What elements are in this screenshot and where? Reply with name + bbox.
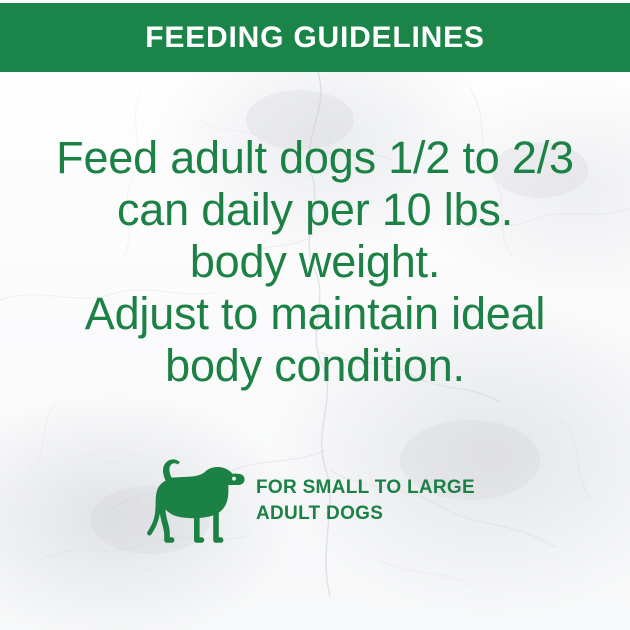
feeding-instructions: Feed adult dogs 1/2 to 2/3 can daily per… (0, 132, 630, 392)
guideline-line-1: Feed adult dogs 1/2 to 2/3 (0, 132, 630, 184)
feeding-guidelines-panel: FEEDING GUIDELINES Feed adult dogs 1/2 t… (0, 0, 630, 630)
dog-silhouette-icon (146, 458, 246, 544)
guideline-line-3: body weight. (0, 236, 630, 288)
feeding-guidelines-banner: FEEDING GUIDELINES (0, 3, 630, 72)
badge-caption: FOR SMALL TO LARGE ADULT DOGS (256, 475, 475, 527)
badge-caption-line-1: FOR SMALL TO LARGE (256, 475, 475, 501)
life-stage-badge: FOR SMALL TO LARGE ADULT DOGS (146, 458, 475, 544)
guideline-line-2: can daily per 10 lbs. (0, 184, 630, 236)
page-title: FEEDING GUIDELINES (145, 23, 484, 53)
badge-caption-line-2: ADULT DOGS (256, 501, 475, 527)
guideline-line-4: Adjust to maintain ideal (0, 288, 630, 340)
guideline-line-5: body condition. (0, 340, 630, 392)
